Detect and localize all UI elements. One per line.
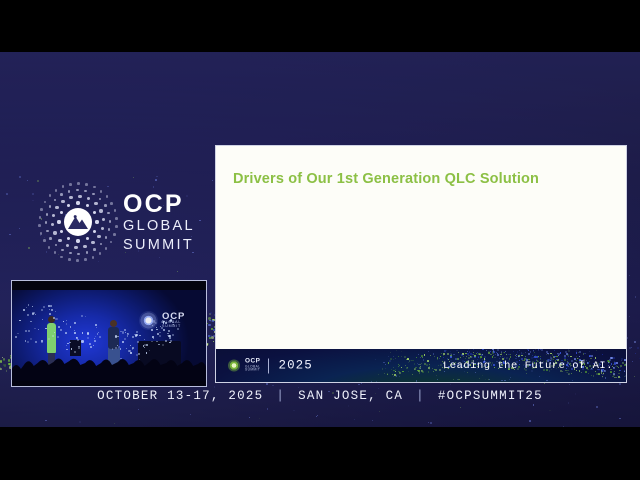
ocp-mark-icon	[228, 360, 240, 372]
slide-footer-divider	[268, 358, 269, 373]
presentation-slide[interactable]: Drivers of Our 1st Generation QLC Soluti…	[215, 145, 627, 383]
stage-logo-summit: SUMMIT	[162, 325, 185, 329]
letterbox-top	[0, 0, 640, 52]
stage-backdrop-logo-icon	[139, 311, 158, 330]
slide-footer-branding: OCP GLOBAL SUMMIT 2025	[228, 358, 313, 373]
speaker-video-thumbnail[interactable]: OCP GLOBAL SUMMIT	[11, 280, 207, 387]
slide-title: Drivers of Our 1st Generation QLC Soluti…	[233, 171, 539, 187]
event-hashtag: #OCPSUMMIT25	[438, 389, 543, 403]
slide-content-area: Drivers of Our 1st Generation QLC Soluti…	[216, 146, 626, 351]
stage-backdrop-logo-text: OCP GLOBAL SUMMIT	[162, 312, 185, 329]
event-location: SAN JOSE, CA	[298, 389, 403, 403]
video-stage-scene: OCP GLOBAL SUMMIT	[12, 281, 206, 386]
event-separator-2: |	[416, 389, 425, 403]
logo-subtitle-summit: SUMMIT	[123, 236, 195, 255]
slide-footer-year: 2025	[278, 359, 312, 373]
slide-footer-tagline: Leading the Future of AI.	[443, 360, 613, 372]
logo-burst-icon	[42, 186, 114, 258]
slide-footer-bar: OCP GLOBAL SUMMIT 2025 Leading the Futur…	[216, 349, 626, 382]
speaker-seated-head	[110, 320, 117, 327]
video-bottom-letterbox	[12, 381, 206, 386]
mountain-peak-icon	[64, 208, 92, 236]
ocp-summit-logo: OCP GLOBAL SUMMIT	[42, 184, 192, 260]
event-dates: OCTOBER 13-17, 2025	[97, 389, 263, 403]
slide-footer-logo-summit: SUMMIT	[245, 369, 260, 372]
event-info-line: OCTOBER 13-17, 2025 | SAN JOSE, CA | #OC…	[97, 389, 543, 403]
logo-title: OCP	[123, 192, 195, 217]
letterbox-bottom	[0, 427, 640, 480]
audience-silhouette	[12, 351, 206, 381]
logo-subtitle-global: GLOBAL	[123, 217, 195, 236]
logo-wordmark: OCP GLOBAL SUMMIT	[123, 190, 195, 254]
broadcast-frame: OCP GLOBAL SUMMIT OCP	[0, 52, 640, 427]
event-separator-1: |	[276, 389, 285, 403]
stream-viewport: OCP GLOBAL SUMMIT OCP	[0, 0, 640, 480]
video-top-letterbox	[12, 281, 206, 290]
slide-footer-logo-text: OCP GLOBAL SUMMIT	[245, 359, 260, 373]
